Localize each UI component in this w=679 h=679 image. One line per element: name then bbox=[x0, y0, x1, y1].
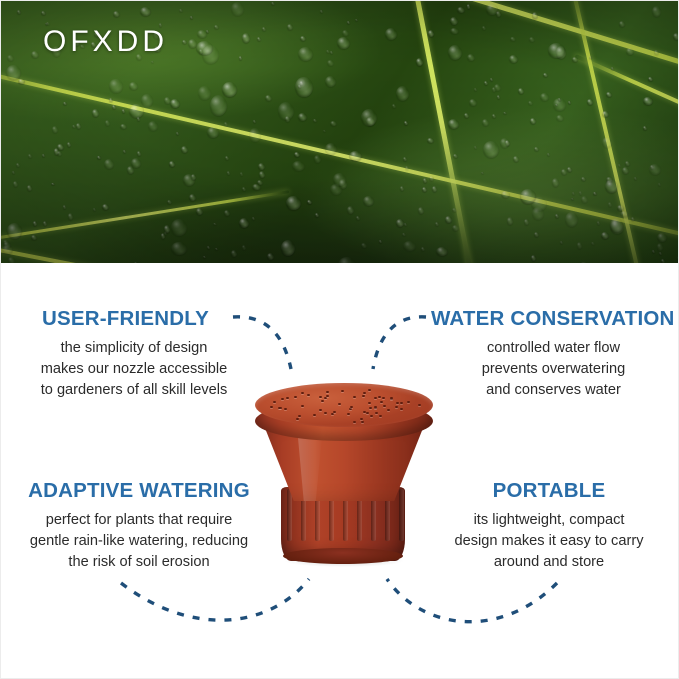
nozzle-hole bbox=[382, 397, 385, 399]
nozzle-hole bbox=[395, 406, 398, 408]
feature-user-friendly: USER-FRIENDLY the simplicity of design m… bbox=[19, 307, 249, 401]
nozzle-hole bbox=[370, 415, 373, 417]
feature-water-conservation: WATER CONSERVATION controlled water flow… bbox=[431, 307, 676, 401]
base-rib bbox=[287, 489, 292, 541]
nozzle-hole bbox=[341, 390, 344, 392]
feature-line: gentle rain-like watering, reducing bbox=[30, 533, 248, 549]
nozzle-hole bbox=[313, 414, 316, 416]
hero-leaf-photo: OFXDD bbox=[1, 1, 679, 263]
feature-line: makes our nozzle accessible bbox=[41, 361, 228, 377]
feature-body-water-conservation: controlled water flow prevents overwater… bbox=[431, 338, 676, 401]
nozzle-hole bbox=[326, 395, 329, 397]
nozzle-hole bbox=[319, 409, 322, 411]
nozzle-hole bbox=[362, 395, 365, 397]
feature-line: prevents overwatering bbox=[482, 361, 626, 377]
nozzle-hole bbox=[400, 408, 403, 410]
feature-body-portable: its lightweight, compact design makes it… bbox=[425, 510, 673, 573]
nozzle-hole bbox=[387, 409, 390, 411]
nozzle-hole bbox=[374, 397, 377, 399]
nozzle-hole bbox=[383, 405, 386, 407]
nozzle-hole bbox=[380, 401, 383, 403]
nozzle-hole bbox=[366, 412, 369, 414]
feature-body-adaptive-watering: perfect for plants that require gentle r… bbox=[13, 510, 265, 573]
feature-adaptive-watering: ADAPTIVE WATERING perfect for plants tha… bbox=[13, 479, 265, 573]
nozzle-hole bbox=[390, 397, 393, 399]
nozzle-hole bbox=[407, 401, 410, 403]
nozzle-hole bbox=[326, 391, 329, 393]
nozzle-hole bbox=[331, 413, 334, 415]
nozzle-hole bbox=[396, 402, 399, 404]
nozzle-hole bbox=[307, 394, 310, 396]
brand-logo: OFXDD bbox=[43, 25, 168, 59]
feature-line: the risk of soil erosion bbox=[68, 554, 209, 570]
nozzle-hole bbox=[361, 421, 364, 423]
feature-line: around and store bbox=[494, 554, 604, 570]
nozzle-hole bbox=[353, 396, 356, 398]
nozzle-hole bbox=[301, 392, 304, 394]
nozzle-hole bbox=[347, 413, 350, 415]
nozzle-hole bbox=[378, 396, 381, 398]
nozzle-hole bbox=[353, 421, 356, 423]
nozzle-hole bbox=[321, 400, 324, 402]
nozzle-hole bbox=[284, 408, 287, 410]
nozzle-hole bbox=[324, 397, 327, 399]
feature-title-user-friendly: USER-FRIENDLY bbox=[19, 307, 249, 331]
nozzle-hole bbox=[333, 411, 336, 413]
nozzle-hole bbox=[375, 412, 378, 414]
nozzle-hole bbox=[298, 415, 301, 417]
nozzle-hole bbox=[301, 405, 304, 407]
nozzle-hole bbox=[379, 415, 382, 417]
feature-title-adaptive-watering: ADAPTIVE WATERING bbox=[13, 479, 265, 503]
nozzle-hole bbox=[368, 402, 371, 404]
feature-line: controlled water flow bbox=[487, 340, 620, 356]
nozzle-hole bbox=[270, 406, 273, 408]
feature-line: design makes it easy to carry bbox=[455, 533, 644, 549]
nozzle-hole bbox=[281, 398, 284, 400]
nozzle-hole bbox=[338, 403, 341, 405]
nozzle-hole bbox=[296, 418, 299, 420]
infographic-canvas: OFXDD USER-FRIENDLY the simplicity of de… bbox=[0, 0, 679, 679]
feature-line: the simplicity of design bbox=[61, 340, 208, 356]
feature-line: its lightweight, compact bbox=[474, 512, 625, 528]
feature-body-user-friendly: the simplicity of design makes our nozzl… bbox=[19, 338, 249, 401]
nozzle-hole bbox=[400, 402, 403, 404]
nozzle-hole bbox=[360, 418, 363, 420]
nozzle-hole bbox=[294, 396, 297, 398]
nozzle-hole bbox=[319, 396, 322, 398]
feature-line: to gardeners of all skill levels bbox=[41, 382, 228, 398]
feature-line: perfect for plants that require bbox=[46, 512, 233, 528]
feature-line: and conserves water bbox=[486, 382, 621, 398]
base-rib bbox=[399, 489, 404, 541]
nozzle-hole bbox=[349, 408, 352, 410]
product-perforated-top bbox=[255, 383, 433, 427]
nozzle-hole bbox=[369, 407, 372, 409]
feature-portable: PORTABLE its lightweight, compact design… bbox=[425, 479, 673, 573]
nozzle-hole bbox=[273, 401, 276, 403]
feature-title-water-conservation: WATER CONSERVATION bbox=[431, 307, 676, 331]
product-image-sprinkler-nozzle bbox=[249, 379, 439, 571]
nozzle-hole bbox=[418, 404, 421, 406]
nozzle-hole bbox=[368, 389, 371, 391]
feature-title-portable: PORTABLE bbox=[425, 479, 673, 503]
nozzle-hole bbox=[363, 392, 366, 394]
nozzle-hole bbox=[286, 397, 289, 399]
nozzle-hole bbox=[324, 412, 327, 414]
